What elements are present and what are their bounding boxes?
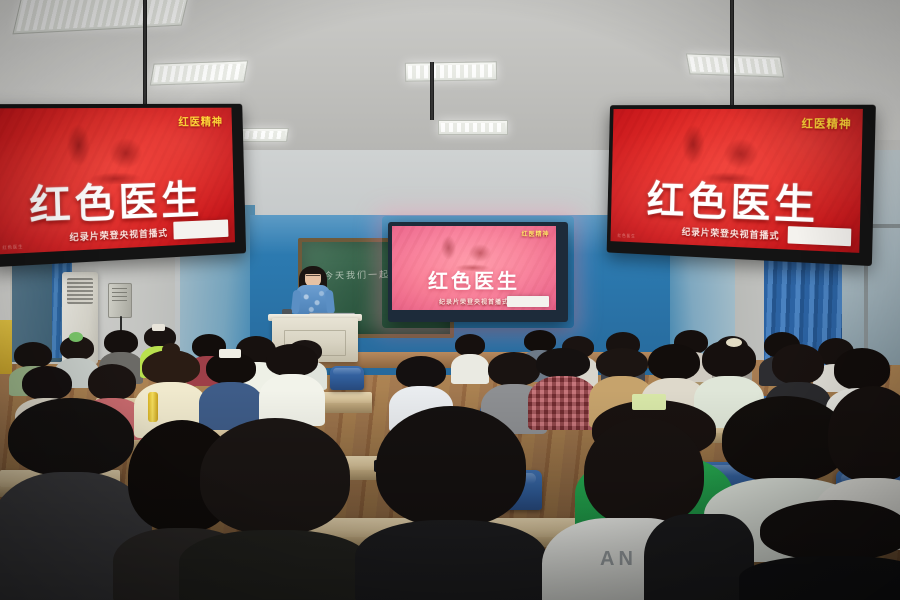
yellow-wall-strip: [0, 320, 12, 374]
ceiling-lamp-5: [438, 120, 508, 135]
left-poster-white-box: [173, 220, 228, 240]
shoulders: [179, 530, 371, 600]
hair-clip: [726, 338, 742, 347]
right-poster-badge: 红医精神: [801, 115, 852, 132]
tv-suspension-pole-right: [730, 0, 734, 110]
air-conditioner-grill: [67, 278, 93, 304]
hair: [828, 386, 900, 482]
hoodie-black-hood: [644, 514, 754, 600]
hair-clip-green: [632, 394, 666, 410]
right-tv-screen: 红医精神 红色医生 纪录片荣登央视首播式 红色医生: [611, 109, 863, 253]
chair-far-2[interactable]: [330, 366, 364, 390]
audience-foreground-far-right: [760, 500, 900, 600]
wall-electrical-panel: [108, 283, 132, 318]
audience-mid-5: [266, 344, 318, 426]
hair: [455, 334, 485, 356]
hair: [8, 398, 134, 476]
hair: [376, 406, 526, 526]
ceiling-lamp-4: [686, 53, 784, 77]
hair: [834, 348, 890, 390]
hair: [760, 500, 900, 560]
audience-far-8: [455, 334, 485, 386]
right-wall-mounted-tv: 红医精神 红色医生 纪录片荣登央视首播式 红色医生: [607, 105, 876, 266]
audience-foreground-hoodie: AN: [560, 418, 740, 600]
hair: [648, 344, 700, 380]
ceiling-lamp-2: [150, 60, 249, 85]
shoulders: [739, 556, 900, 600]
center-projection-screen: 红医精神 红色医生 纪录片荣登央视首播式: [388, 222, 568, 322]
hair: [488, 352, 540, 386]
hair: [88, 364, 136, 400]
hair: [536, 348, 590, 378]
hair-clip: [152, 324, 165, 331]
hair: [396, 356, 446, 388]
presenter-right-arm: [325, 290, 335, 315]
center-poster-title: 红色医生: [392, 265, 556, 294]
left-tv-screen: 红医精神 红色医生 纪录片荣登央视首播式 红色医生: [0, 108, 235, 255]
left-poster-corner-mark: 红色医生: [2, 244, 23, 251]
left-wall-mounted-tv: 红医精神 红色医生 纪录片荣登央视首播式 红色医生: [0, 104, 246, 268]
hoodie-print-text: AN: [600, 548, 637, 571]
hair: [22, 366, 72, 400]
hair: [596, 348, 648, 378]
hair: [104, 330, 138, 354]
tv-suspension-pole-left: [143, 0, 147, 112]
panel-vent-lines: [112, 288, 127, 289]
right-poster-corner-mark: 红色医生: [617, 233, 635, 240]
presenter-glasses: [306, 275, 320, 279]
lecture-hall-photo: 今天我们一起来 红医精神 红色医生 纪录片荣登央视首播式: [0, 0, 900, 600]
center-poster-badge: 红医精神: [521, 229, 549, 238]
hair: [772, 344, 824, 384]
shoulders: [451, 354, 489, 384]
audience-foreground-center-bowl: [376, 406, 526, 600]
hair-clip: [219, 349, 241, 358]
tv-suspension-pole-center: [430, 62, 434, 120]
hair: [200, 418, 350, 534]
center-projection-surface: 红医精神 红色医生 纪录片荣登央视首播式: [392, 226, 556, 310]
hair: [266, 344, 318, 376]
audience-foreground-short-hair: [200, 418, 350, 600]
hair: [584, 418, 704, 526]
yellow-drink-bottle: [148, 392, 158, 422]
left-poster-badge: 红医精神: [178, 113, 223, 129]
shoulders: [355, 520, 547, 600]
right-poster-white-box: [788, 226, 852, 247]
hair-clip: [69, 332, 83, 342]
presenter-fringe: [304, 267, 322, 274]
center-poster-white-box: [507, 296, 550, 307]
hair: [14, 342, 52, 368]
hair-bun: [162, 343, 180, 357]
ceiling-lamp-3: [405, 61, 497, 82]
